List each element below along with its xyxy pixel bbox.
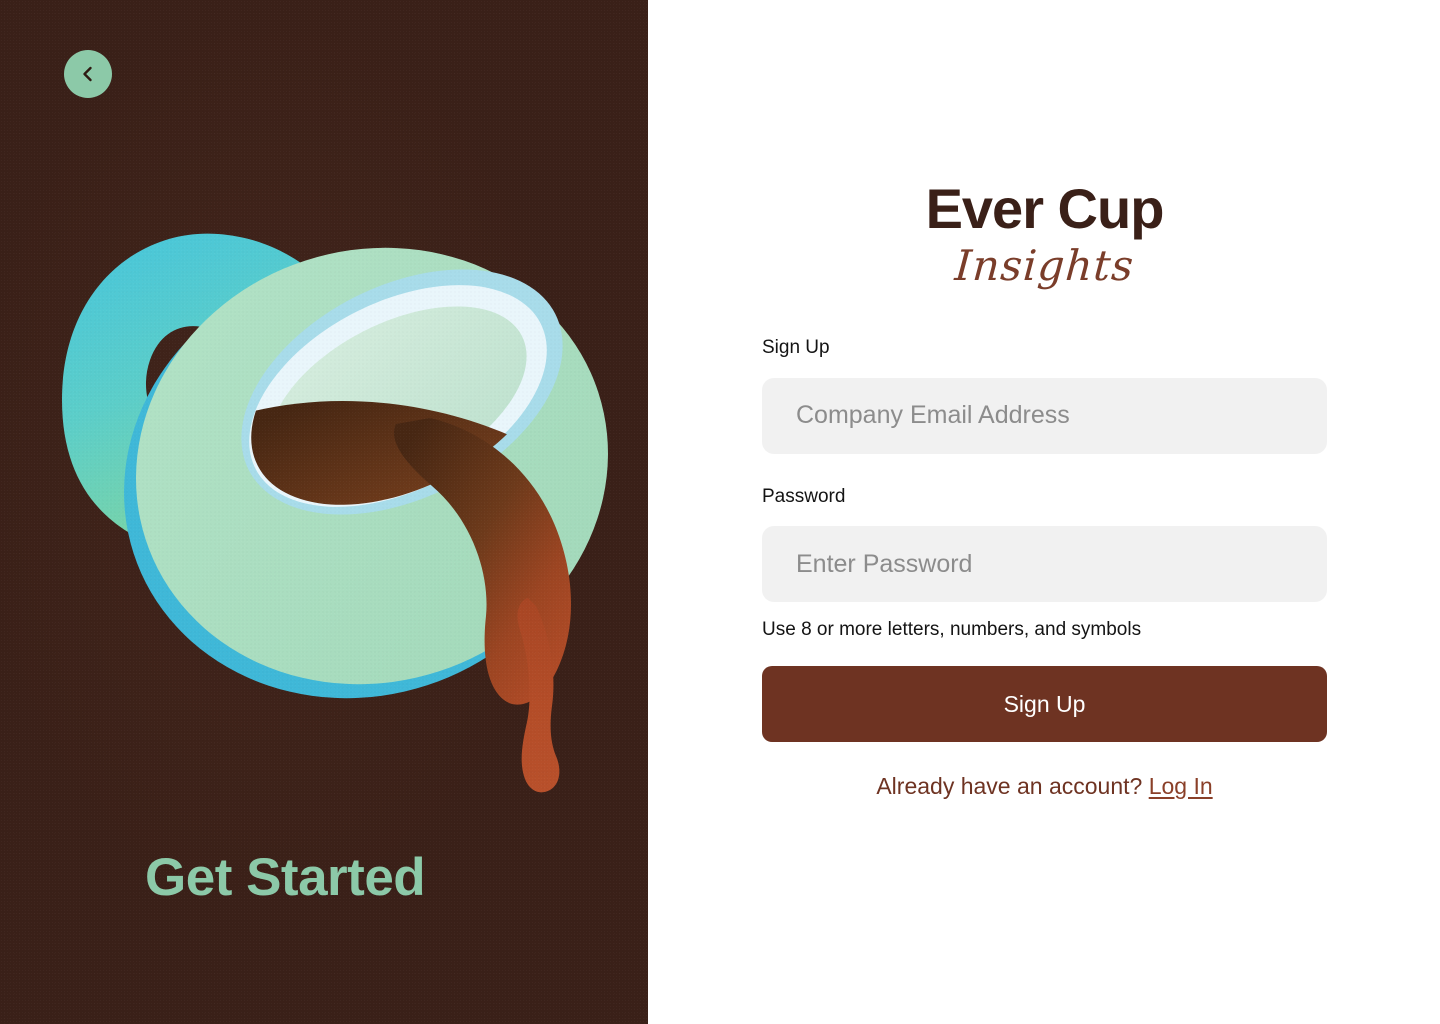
log-in-link[interactable]: Log In xyxy=(1149,773,1213,799)
chevron-left-icon xyxy=(77,63,99,85)
email-field-label: Sign Up xyxy=(762,337,1327,360)
login-prompt-text: Already have an account? xyxy=(876,773,1142,799)
promo-panel: Get Started xyxy=(0,0,648,1024)
login-prompt-row: Already have an account? Log In xyxy=(762,773,1327,801)
sign-up-button[interactable]: Sign Up xyxy=(762,666,1327,742)
signup-screen: Get Started Ever Cup Insights Sign Up Pa… xyxy=(0,0,1440,1024)
promo-headline: Get Started xyxy=(145,849,425,906)
brand-title: Ever Cup xyxy=(762,180,1327,239)
signup-form: Ever Cup Insights Sign Up Password Use 8… xyxy=(762,0,1327,801)
password-helper-text: Use 8 or more letters, numbers, and symb… xyxy=(762,619,1327,642)
brand-subtitle: Insights xyxy=(761,245,1329,287)
email-input[interactable] xyxy=(762,378,1327,454)
back-button[interactable] xyxy=(64,50,112,98)
password-field-group: Password Use 8 or more letters, numbers,… xyxy=(762,486,1327,643)
signup-form-panel: Ever Cup Insights Sign Up Password Use 8… xyxy=(648,0,1440,1024)
password-input[interactable] xyxy=(762,526,1327,602)
email-field-group: Sign Up xyxy=(762,337,1327,454)
password-field-label: Password xyxy=(762,486,1327,509)
brand-lockup: Ever Cup Insights xyxy=(762,180,1327,287)
